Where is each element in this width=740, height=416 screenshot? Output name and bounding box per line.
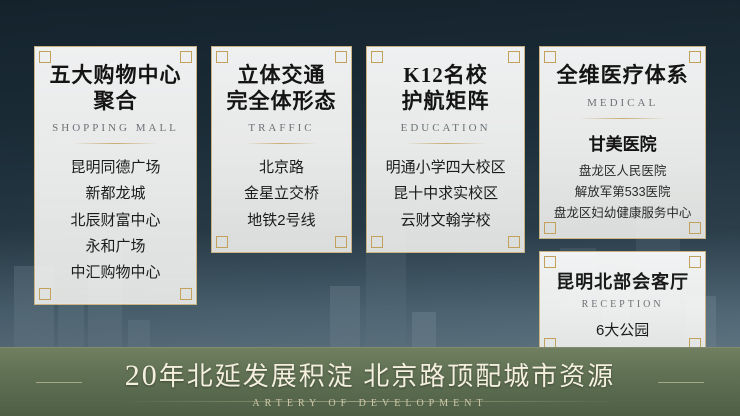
card-subtitle: EDUCATION (375, 122, 516, 134)
bottom-banner: 20年北延发展积淀 北京路顶配城市资源 ARTERY OF DEVELOPMEN… (0, 347, 740, 416)
list-item: 云财文翰学校 (375, 208, 516, 234)
banner-rule (120, 401, 620, 402)
corner-ornament-icon (216, 236, 228, 248)
card-subtitle: TRAFFIC (220, 122, 343, 134)
list-item: 金星立交桥 (220, 181, 343, 207)
list-item: 北京路 (220, 155, 343, 181)
card-title-line2: 护航矩阵 (375, 89, 516, 115)
corner-ornament-icon (544, 51, 556, 63)
card-shopping-mall[interactable]: 五大购物中心 聚合 SHOPPING MALL 昆明同德广场 新都龙城 北辰财富… (34, 46, 197, 305)
poster-root: 五大购物中心 聚合 SHOPPING MALL 昆明同德广场 新都龙城 北辰财富… (0, 0, 740, 416)
card-title-line2: 聚合 (43, 89, 188, 115)
reception-body: 6大公园 (548, 319, 697, 340)
corner-ornament-icon (508, 236, 520, 248)
list-item: 明通小学四大校区 (375, 155, 516, 181)
card-title-line1: K12名校 (375, 63, 516, 89)
banner-text: 年北延发展积淀 北京路顶配城市资源 (159, 362, 616, 391)
list-item: 盘龙区人民医院 (548, 161, 697, 182)
corner-ornament-icon (689, 256, 701, 268)
card-title-line2: 完全体形态 (220, 89, 343, 115)
list-item: 昆十中求实校区 (375, 181, 516, 207)
corner-ornament-icon (216, 51, 228, 63)
divider (246, 143, 317, 144)
card-item-list: 北京路 金星立交桥 地铁2号线 (220, 155, 343, 234)
list-item: 新都龙城 (43, 181, 188, 207)
divider (405, 143, 487, 144)
banner-main-text: 20年北延发展积淀 北京路顶配城市资源 (125, 356, 616, 393)
corner-ornament-icon (508, 51, 520, 63)
banner-number: 20 (125, 359, 159, 392)
medical-heading: 甘美医院 (548, 130, 697, 155)
card-item-list: 明通小学四大校区 昆十中求实校区 云财文翰学校 (375, 155, 516, 234)
corner-ornament-icon (371, 51, 383, 63)
corner-ornament-icon (180, 51, 192, 63)
card-item-list: 昆明同德广场 新都龙城 北辰财富中心 永和广场 中汇购物中心 (43, 155, 188, 286)
column-education: K12名校 护航矩阵 EDUCATION 明通小学四大校区 昆十中求实校区 云财… (366, 46, 525, 253)
corner-ornament-icon (689, 222, 701, 234)
corner-ornament-icon (544, 222, 556, 234)
card-title-line1: 五大购物中心 (43, 63, 188, 89)
list-item: 北辰财富中心 (43, 208, 188, 234)
card-title-line1: 全维医疗体系 (548, 63, 697, 89)
column-shopping: 五大购物中心 聚合 SHOPPING MALL 昆明同德广场 新都龙城 北辰财富… (34, 46, 197, 305)
corner-ornament-icon (335, 236, 347, 248)
list-item: 地铁2号线 (220, 208, 343, 234)
banner-subtitle: ARTERY OF DEVELOPMENT (252, 398, 487, 409)
reception-subtitle: RECEPTION (548, 299, 697, 310)
list-item: 中汇购物中心 (43, 260, 188, 286)
banner-wing-left (36, 382, 82, 383)
list-item: 盘龙区妇幼健康服务中心 (548, 203, 697, 224)
divider (73, 143, 157, 144)
column-traffic: 立体交通 完全体形态 TRAFFIC 北京路 金星立交桥 地铁2号线 (211, 46, 352, 253)
card-traffic[interactable]: 立体交通 完全体形态 TRAFFIC 北京路 金星立交桥 地铁2号线 (211, 46, 352, 253)
card-title-line1: 立体交通 (220, 63, 343, 89)
banner-wing-right (658, 382, 704, 383)
card-education[interactable]: K12名校 护航矩阵 EDUCATION 明通小学四大校区 昆十中求实校区 云财… (366, 46, 525, 253)
column-medical-reception: 全维医疗体系 MEDICAL 甘美医院 盘龙区人民医院 解放军第533医院 盘龙… (539, 46, 706, 355)
corner-ornament-icon (335, 51, 347, 63)
corner-ornament-icon (371, 236, 383, 248)
card-item-list: 盘龙区人民医院 解放军第533医院 盘龙区妇幼健康服务中心 (548, 161, 697, 225)
list-item: 昆明同德广场 (43, 155, 188, 181)
card-subtitle: MEDICAL (548, 97, 697, 109)
card-reception[interactable]: 昆明北部会客厅 RECEPTION 6大公园 (539, 251, 706, 355)
corner-ornament-icon (180, 288, 192, 300)
divider (579, 118, 665, 119)
corner-ornament-icon (39, 288, 51, 300)
card-subtitle: SHOPPING MALL (43, 122, 188, 134)
corner-ornament-icon (689, 51, 701, 63)
card-medical[interactable]: 全维医疗体系 MEDICAL 甘美医院 盘龙区人民医院 解放军第533医院 盘龙… (539, 46, 706, 239)
reception-title: 昆明北部会客厅 (548, 268, 697, 294)
corner-ornament-icon (544, 256, 556, 268)
corner-ornament-icon (39, 51, 51, 63)
list-item: 永和广场 (43, 234, 188, 260)
list-item: 解放军第533医院 (548, 182, 697, 203)
card-panels: 五大购物中心 聚合 SHOPPING MALL 昆明同德广场 新都龙城 北辰财富… (34, 46, 706, 355)
